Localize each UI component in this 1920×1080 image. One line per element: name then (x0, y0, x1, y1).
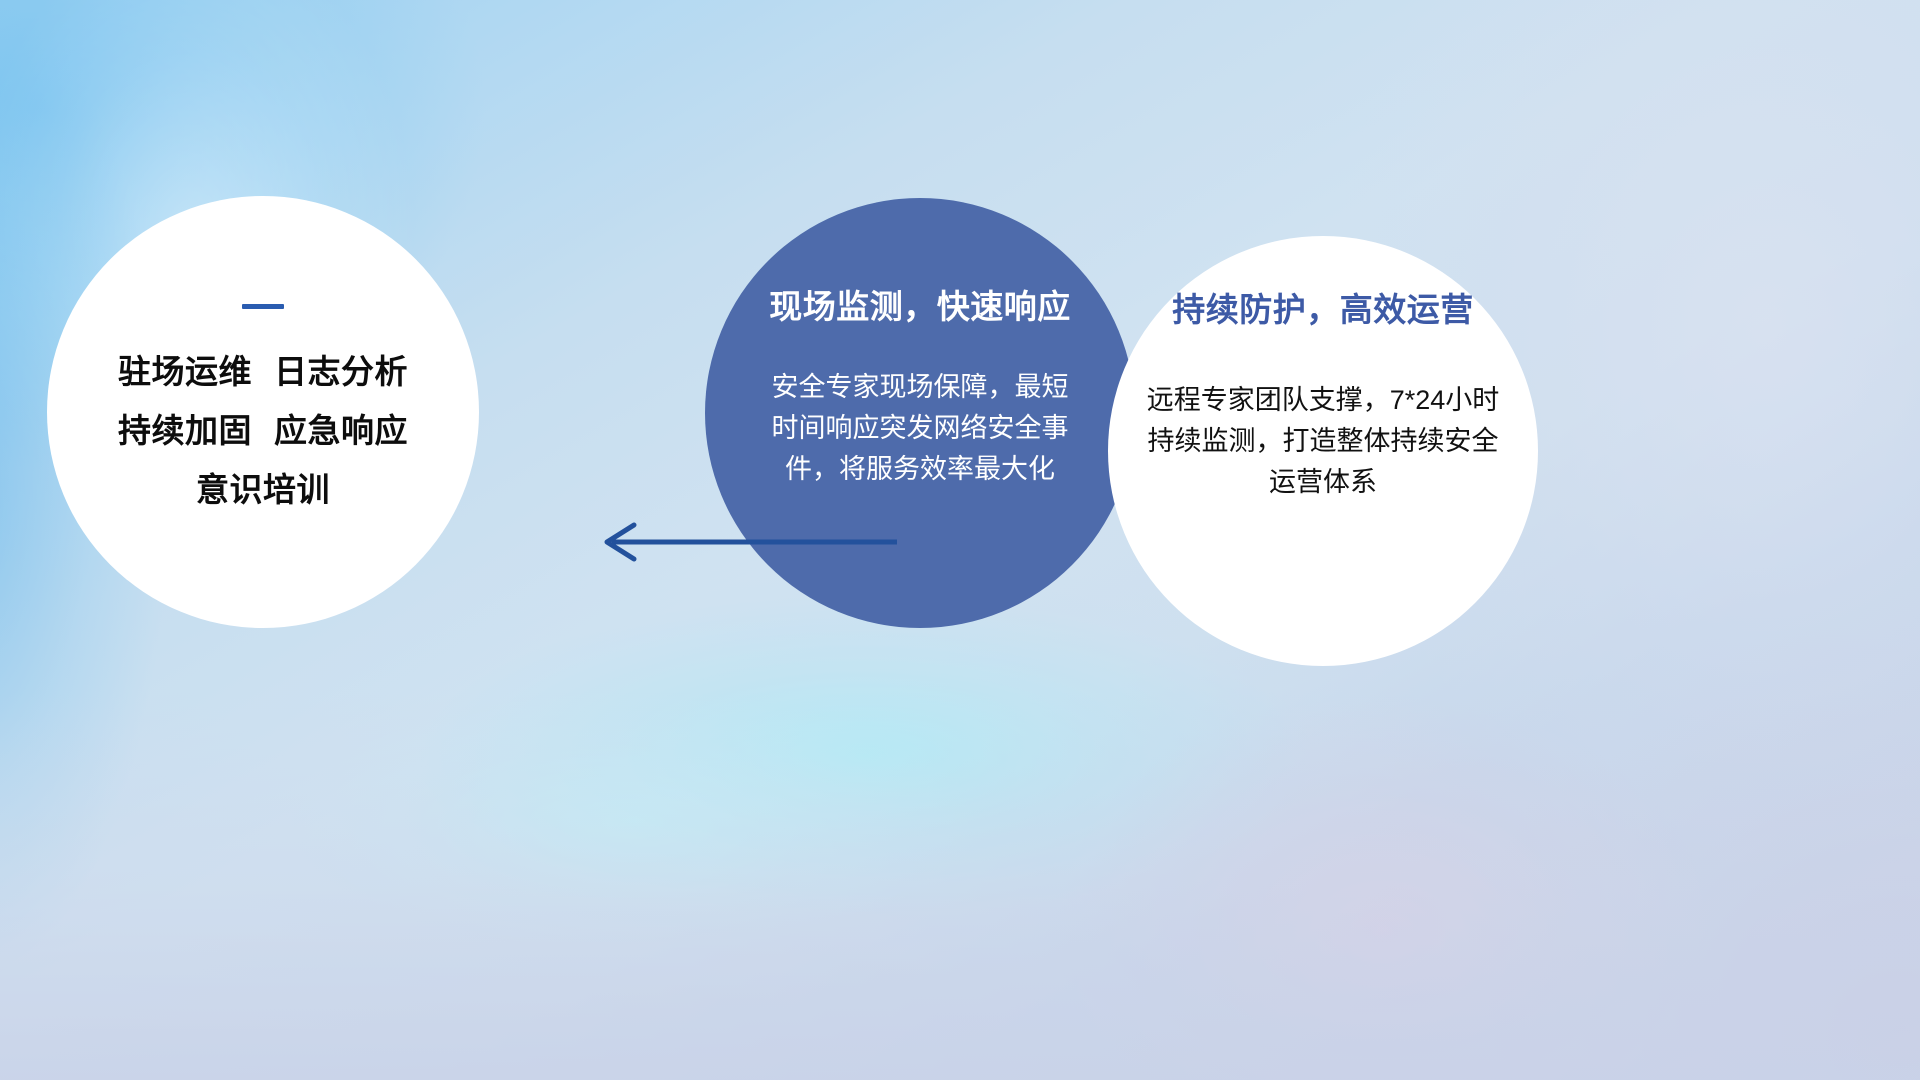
onsite-monitoring-content: 现场监测，快速响应 安全专家现场保障，最短时间响应突发网络安全事件，将服务效率最… (705, 198, 1135, 628)
continuous-protection-title: 持续防护，高效运营 (1172, 293, 1474, 326)
capability-row-1: 驻场运维日志分析 (118, 355, 408, 388)
capability-row-2: 持续加固应急响应 (118, 414, 408, 447)
continuous-protection-body: 远程专家团队支撑，7*24小时持续监测，打造整体持续安全运营体系 (1143, 380, 1503, 503)
slide-canvas: 驻场运维日志分析 持续加固应急响应 意识培训 现场监测，快速响应 安全专家现场保… (0, 0, 1920, 1080)
capability-item-rizhifenxi: 日志分析 (274, 353, 408, 390)
capability-item-yishipeixun: 意识培训 (196, 471, 330, 508)
capability-item-chixujiagu: 持续加固 (118, 412, 252, 449)
service-capabilities-content: 驻场运维日志分析 持续加固应急响应 意识培训 (47, 196, 479, 628)
continuous-protection-content: 持续防护，高效运营 远程专家团队支撑，7*24小时持续监测，打造整体持续安全运营… (1108, 236, 1538, 666)
capability-item-zhuchangyunwei: 驻场运维 (118, 353, 252, 390)
capability-item-yingjixiangying: 应急响应 (274, 412, 408, 449)
capability-row-3: 意识培训 (196, 473, 330, 506)
onsite-monitoring-title: 现场监测，快速响应 (769, 290, 1071, 323)
onsite-monitoring-body: 安全专家现场保障，最短时间响应突发网络安全事件，将服务效率最大化 (765, 367, 1075, 490)
accent-dash-divider (242, 304, 284, 309)
